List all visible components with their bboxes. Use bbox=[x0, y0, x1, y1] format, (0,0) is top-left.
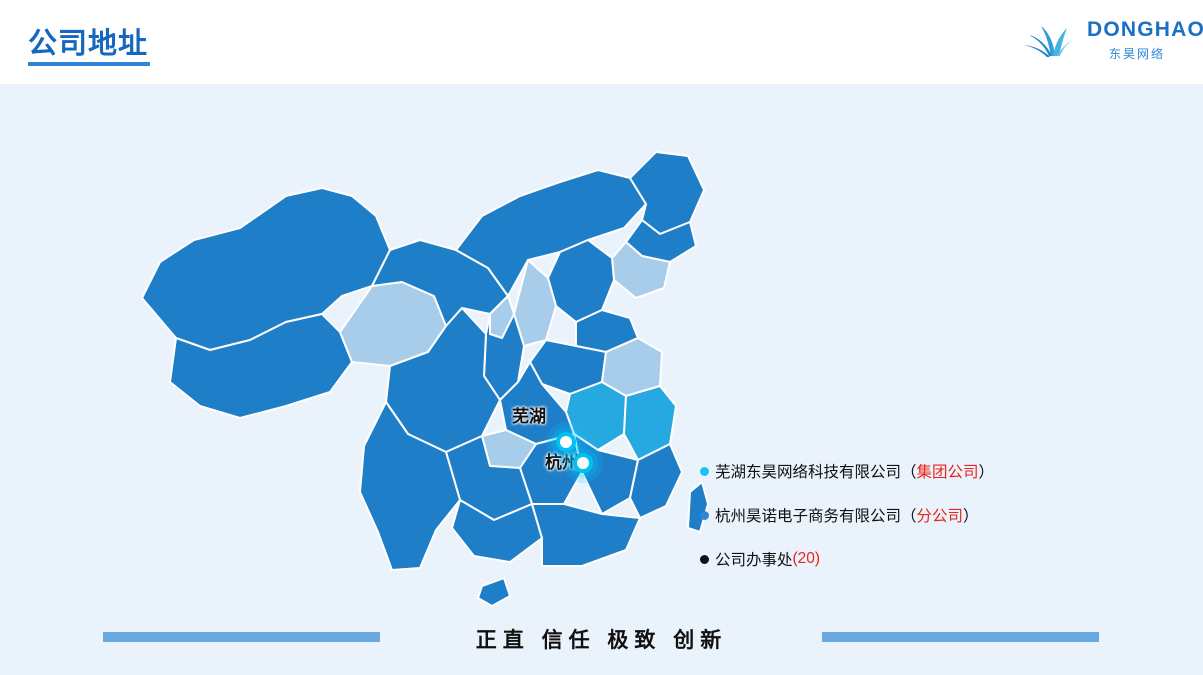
fan-burst-logo-icon bbox=[1021, 16, 1081, 62]
legend-text-0: 芜湖东昊网络科技有限公司（ bbox=[715, 460, 917, 482]
company-logo: DONGHAO 东昊网络 bbox=[1021, 12, 1181, 70]
legend-dot-blue-icon bbox=[700, 511, 709, 520]
legend: 芜湖东昊网络科技有限公司（ 集团公司 ） 杭州昊诺电子商务有限公司（ 分公司 ）… bbox=[700, 460, 1120, 592]
legend-text-1: 杭州昊诺电子商务有限公司（ bbox=[715, 504, 917, 526]
legend-highlight-0: 集团公司 bbox=[917, 460, 979, 482]
list-item: 公司办事处 (20) bbox=[700, 548, 1120, 570]
list-item: 芜湖东昊网络科技有限公司（ 集团公司 ） bbox=[700, 460, 1120, 482]
legend-dot-black-icon bbox=[700, 555, 709, 564]
footer-rule-right bbox=[822, 632, 1099, 642]
legend-tail-0: ） bbox=[979, 460, 995, 482]
legend-dot-cyan-icon bbox=[700, 467, 709, 476]
legend-highlight-1: 分公司 bbox=[917, 504, 964, 526]
province-hainan bbox=[478, 578, 510, 606]
slide-header: 公司地址 DONGHAO 东昊网络 bbox=[0, 0, 1203, 84]
marker-wuhu-icon[interactable] bbox=[560, 436, 572, 448]
china-map-svg bbox=[90, 100, 730, 620]
map-label-wuhu: 芜湖 bbox=[512, 402, 546, 427]
logo-subtext: 东昊网络 bbox=[1109, 45, 1165, 62]
slide: 公司地址 DONGHAO 东昊网络 bbox=[0, 0, 1203, 675]
logo-wordmark: DONGHAO bbox=[1087, 18, 1203, 42]
page-title: 公司地址 bbox=[28, 20, 148, 62]
legend-text-2: 公司办事处 bbox=[715, 548, 793, 570]
list-item: 杭州昊诺电子商务有限公司（ 分公司 ） bbox=[700, 504, 1120, 526]
marker-hangzhou-icon[interactable] bbox=[577, 457, 589, 469]
legend-highlight-2: (20) bbox=[793, 550, 821, 568]
province-guangdong bbox=[532, 504, 640, 566]
legend-tail-1: ） bbox=[963, 504, 979, 526]
china-map: 芜湖 杭州 bbox=[90, 100, 730, 620]
title-underline bbox=[28, 62, 150, 66]
